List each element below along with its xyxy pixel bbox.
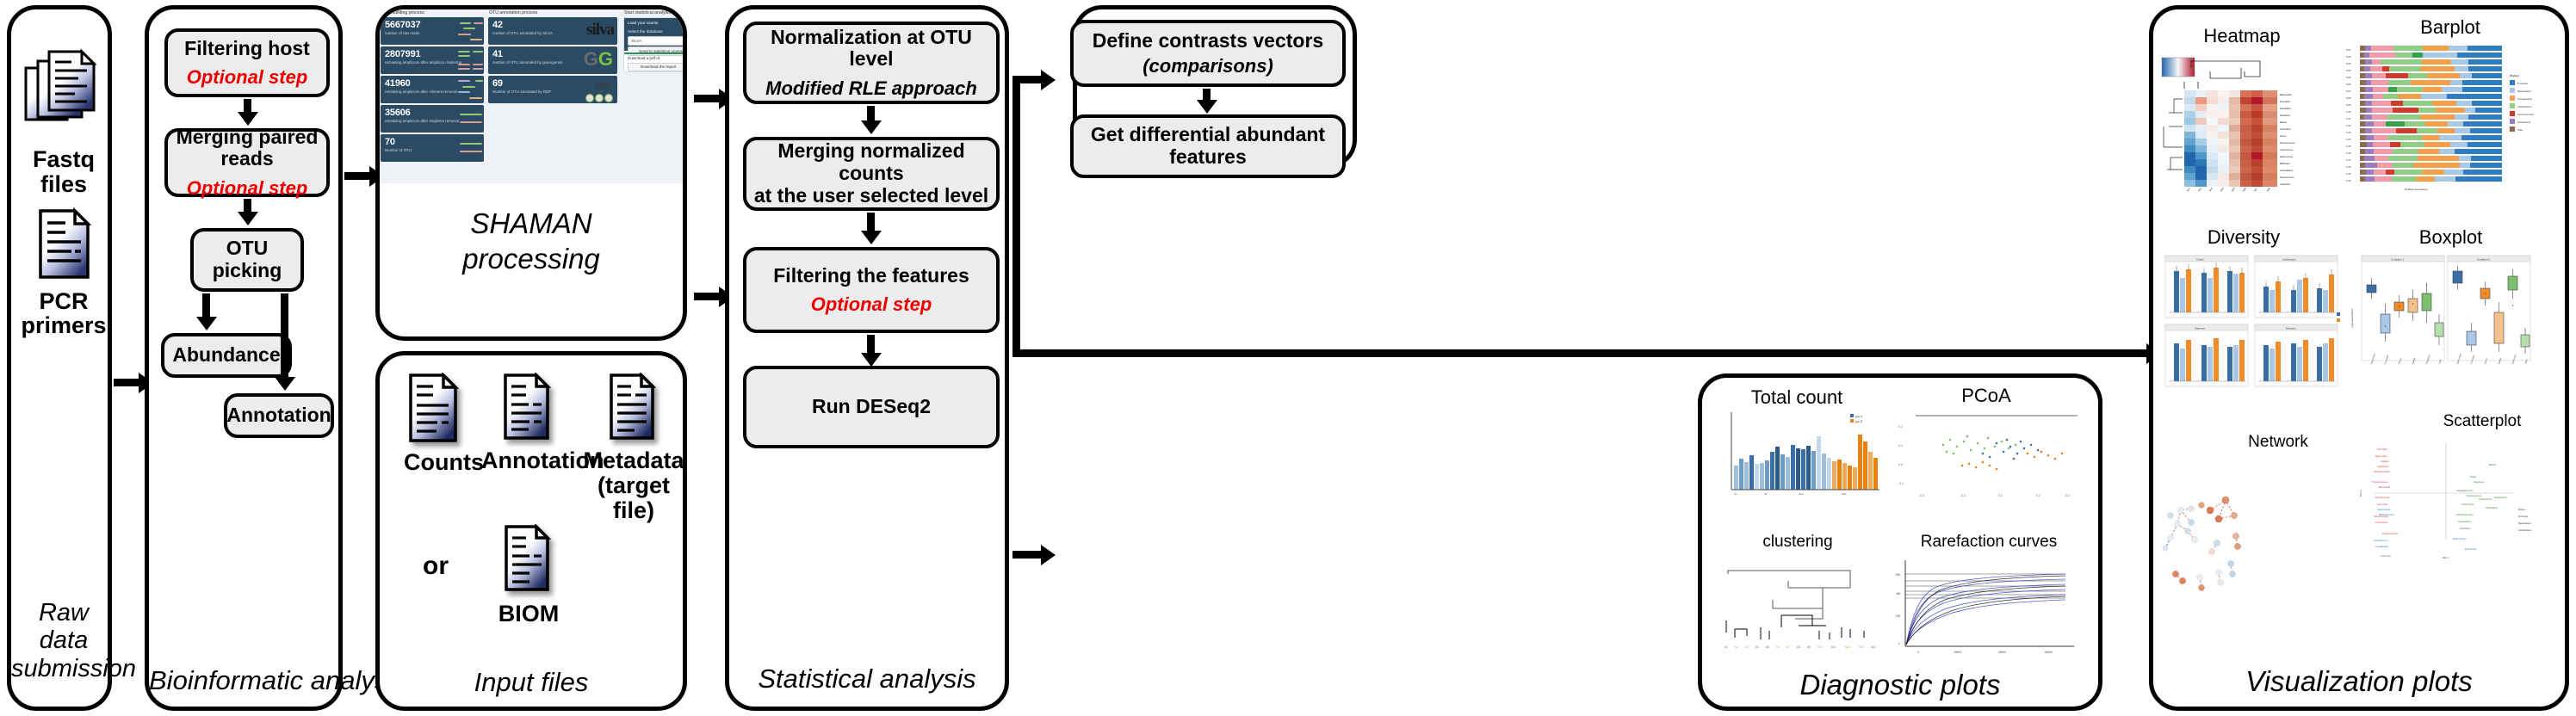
svg-text:Akkermansia: Akkermansia xyxy=(2280,155,2294,158)
card-value: 41960 xyxy=(385,78,411,89)
svg-text:Blautia: Blautia xyxy=(2280,120,2287,124)
svg-text:S05: S05 xyxy=(2231,187,2236,193)
svg-text:Condition 2: Condition 2 xyxy=(2477,258,2491,262)
fastq-files-icon xyxy=(23,47,106,142)
svg-text:Bacteroides: Bacteroides xyxy=(2280,93,2292,96)
diagnostic-plot-clustering: s1s2 s3s4 s5s6 s7s8 s9s10 s11s12 s13s14 xyxy=(1712,555,1885,667)
input-file-biom[interactable]: BIOM xyxy=(481,524,576,626)
svg-text:s12: s12 xyxy=(1845,645,1850,649)
sparkline xyxy=(462,86,475,88)
svg-text:600: 600 xyxy=(1896,573,1901,577)
svg-text:S-18: S-18 xyxy=(2346,165,2351,169)
diagnostic-plot-total-count: S1S5S10S20 grp Agrp B xyxy=(1712,409,1881,512)
svg-text:Shannon: Shannon xyxy=(2195,327,2205,330)
shaman-label-line1: SHAMAN xyxy=(380,206,683,241)
visualization-plot-scatterplot: PrevotellaBacteroidesAlistipes Odoribact… xyxy=(2360,436,2541,608)
svg-text:S-09: S-09 xyxy=(2346,103,2351,107)
arrow-filtering-to-deseq xyxy=(867,335,875,354)
arrow-contrasts-to-differential xyxy=(1203,89,1211,101)
svg-text:Proteobacteria: Proteobacteria xyxy=(2517,97,2532,101)
sparkline xyxy=(458,68,470,70)
connector-statistical-long xyxy=(1012,76,1020,353)
svg-text:S-12: S-12 xyxy=(2346,124,2351,127)
step-note: (comparisons) xyxy=(1142,56,1273,77)
svg-text:Bacteroidetes: Bacteroidetes xyxy=(2518,522,2531,525)
svg-text:Condition 1: Condition 1 xyxy=(2391,258,2405,262)
svg-text:s1: s1 xyxy=(1725,645,1728,649)
shaman-section-otu: OTU building process xyxy=(381,10,424,15)
svg-text:Chao1: Chao1 xyxy=(2196,258,2204,262)
visualization-plot-title-boxplot: Boxplot xyxy=(2375,226,2526,249)
svg-text:Fusobacteria: Fusobacteria xyxy=(2517,120,2531,124)
svg-text:Phylum: Phylum xyxy=(2518,509,2525,511)
svg-text:200: 200 xyxy=(1896,614,1901,618)
svg-text:Faecalibact.: Faecalibact. xyxy=(2280,107,2292,110)
card-caption: Number of OTU xyxy=(385,148,412,152)
shaman-card-otu-4[interactable]: 70 Number of OTU xyxy=(381,134,484,162)
sparkline xyxy=(469,97,482,99)
sparkline xyxy=(473,51,483,52)
svg-text:Blautia: Blautia xyxy=(2489,463,2496,466)
panel-label-statistical: Statistical analysis xyxy=(729,664,1005,694)
svg-text:S07: S07 xyxy=(2253,187,2258,193)
svg-text:Lachnospira: Lachnospira xyxy=(2461,503,2474,506)
svg-text:Roseburia: Roseburia xyxy=(2474,480,2484,484)
step-normalization-otu[interactable]: Normalization at OTU level Modified RLE … xyxy=(743,22,1000,104)
step-title-line1: Get differential abundant xyxy=(1091,124,1325,146)
step-get-differential-features[interactable]: Get differential abundant features xyxy=(1070,114,1346,178)
arrow-statistical-to-diagnostic xyxy=(1012,551,1042,559)
counts-file-icon xyxy=(408,373,463,445)
step-title: Normalization at OTU level xyxy=(746,27,996,71)
svg-text:Akkermansia: Akkermansia xyxy=(2377,508,2391,511)
panel-shaman-processing: OTU building process OTU annotation proc… xyxy=(375,5,687,341)
step-title: Merging paired reads xyxy=(168,127,326,171)
arrow-shaman-to-statistical xyxy=(694,95,720,102)
step-abundance[interactable]: Abundance xyxy=(161,333,292,378)
svg-text:0.2: 0.2 xyxy=(1898,425,1903,429)
arrow-bioinformatic-to-shaman xyxy=(344,172,370,180)
svg-text:S5: S5 xyxy=(1764,492,1768,496)
visualization-plot-boxplot: Condition 1 Condition 2 xyxy=(2350,252,2539,390)
svg-text:S-15: S-15 xyxy=(2346,145,2351,148)
sparkline xyxy=(474,22,483,24)
card-caption: remaining amplicons after chimera remova… xyxy=(385,89,457,94)
arrow-merging-to-otu xyxy=(244,199,251,213)
svg-text:20000: 20000 xyxy=(1954,651,1961,654)
svg-text:InvSimpson: InvSimpson xyxy=(2282,258,2296,262)
panel-label-visualization: Visualization plots xyxy=(2153,665,2565,698)
step-run-deseq2[interactable]: Run DESeq2 xyxy=(743,366,1000,448)
arrow-otu-to-annotation xyxy=(281,293,288,378)
svg-text:Roseburia: Roseburia xyxy=(2280,114,2290,117)
card-value: 5667037 xyxy=(385,20,420,30)
input-file-counts[interactable]: Counts xyxy=(404,373,468,475)
svg-text:S-05: S-05 xyxy=(2346,76,2351,79)
svg-text:Prevotella: Prevotella xyxy=(2377,447,2387,451)
svg-text:S20: S20 xyxy=(1842,492,1847,496)
raw-data-label-line1: Raw data xyxy=(11,599,116,655)
step-otu-picking[interactable]: OTU picking xyxy=(190,228,304,292)
silva-logo-icon: silva xyxy=(586,21,614,40)
svg-text:S02: S02 xyxy=(2197,187,2202,193)
card-caption: number of OTU annotated by greengenes xyxy=(492,60,562,65)
svg-text:40000: 40000 xyxy=(1998,651,2006,654)
svg-text:60000: 60000 xyxy=(2045,651,2053,654)
svg-text:S04: S04 xyxy=(2220,187,2225,193)
svg-text:Phylum: Phylum xyxy=(2510,74,2519,77)
svg-text:Actinobacteria: Actinobacteria xyxy=(2517,105,2532,108)
shaman-section-annotation: OTU annotation process xyxy=(489,10,537,15)
svg-text:Clostridium: Clostridium xyxy=(2460,527,2471,530)
svg-text:Clostridium: Clostridium xyxy=(2280,127,2291,131)
step-define-contrasts[interactable]: Define contrasts vectors (comparisons) xyxy=(1070,20,1346,87)
step-note: Optional step xyxy=(811,294,932,315)
svg-text:Escherichia: Escherichia xyxy=(2465,547,2477,551)
svg-text:S01: S01 xyxy=(2186,187,2191,193)
svg-text:Other: Other xyxy=(2517,128,2523,132)
visualization-plot-title-scatterplot: Scatterplot xyxy=(2405,412,2560,431)
arrow-merging-to-filtering xyxy=(867,213,875,231)
card-caption: Number of OTU annotated by RDP xyxy=(492,89,551,94)
biom-file-icon xyxy=(504,524,554,595)
svg-text:S-10: S-10 xyxy=(2346,110,2351,114)
svg-text:Actinobacteria: Actinobacteria xyxy=(2518,529,2532,532)
rdp-logo-icon: rdp xyxy=(595,81,610,91)
step-merging-normalized-counts[interactable]: Merging normalized counts at the user se… xyxy=(743,137,1000,211)
shaman-card-annotation-1[interactable]: 41 number of OTU annotated by greengenes… xyxy=(488,46,617,74)
svg-text:Streptococcus: Streptococcus xyxy=(2280,176,2294,179)
svg-text:Butyricimonas: Butyricimonas xyxy=(2375,496,2390,499)
svg-text:Streptococcus: Streptococcus xyxy=(2374,539,2388,542)
sparkline xyxy=(473,68,483,70)
svg-text:0.0: 0.0 xyxy=(1998,494,2003,497)
shaman-stats-panel: Load your counts Select the database SIL… xyxy=(623,17,687,72)
arrow-otu-to-abundance xyxy=(202,293,210,318)
step-title-line2: features xyxy=(1169,146,1246,169)
svg-text:Subdoligranulum: Subdoligranulum xyxy=(2456,513,2473,516)
svg-text:Oscillibacter: Oscillibacter xyxy=(2486,506,2498,509)
svg-text:S-16: S-16 xyxy=(2346,151,2351,155)
svg-text:S-02: S-02 xyxy=(2346,55,2351,59)
card-caption: number of raw reads xyxy=(385,31,419,35)
step-filtering-host[interactable]: Filtering host Optional step xyxy=(164,28,330,97)
visualization-plot-network xyxy=(2162,454,2343,626)
visualization-plot-title-barplot: Barplot xyxy=(2377,16,2523,39)
svg-text:S-11: S-11 xyxy=(2346,117,2351,120)
download-report-button[interactable]: Download the report xyxy=(628,63,687,71)
svg-text:Dorea: Dorea xyxy=(2280,134,2287,138)
svg-text:S-17: S-17 xyxy=(2346,158,2351,162)
panel-statistical-analysis: Normalization at OTU level Modified RLE … xyxy=(725,5,1009,711)
rdp-dots-icon xyxy=(585,91,613,103)
counts-file-caption: Counts xyxy=(404,450,468,475)
shaman-card-otu-1[interactable]: 2807991 remaining amplicons after amplic… xyxy=(381,46,484,74)
sparkline xyxy=(463,28,475,29)
panel-contrasts: Define contrasts vectors (comparisons) G… xyxy=(1073,5,1357,169)
svg-text:S-04: S-04 xyxy=(2346,69,2351,72)
download-label: Download a pdf of xyxy=(628,56,659,60)
card-value: 42 xyxy=(492,20,503,30)
stats-database-select[interactable]: SILVA xyxy=(628,36,687,46)
svg-text:Faecalibacterium: Faecalibacterium xyxy=(2456,489,2474,492)
svg-text:S10: S10 xyxy=(1799,492,1804,496)
sparkline xyxy=(458,64,470,65)
svg-text:s9: s9 xyxy=(1807,645,1811,649)
card-value: 2807991 xyxy=(385,49,420,59)
sparkline xyxy=(458,91,470,93)
svg-text:S-06: S-06 xyxy=(2346,83,2351,86)
svg-text:Dorea: Dorea xyxy=(2470,475,2477,478)
step-title: OTU picking xyxy=(194,238,300,282)
svg-text:Odoribacter: Odoribacter xyxy=(2377,465,2389,468)
arrow-statistical-to-visualization xyxy=(1012,349,2147,357)
svg-text:Enterococcus: Enterococcus xyxy=(2453,537,2467,540)
shaman-card-annotation-2[interactable]: 69 Number of OTU annotated by RDP rdp xyxy=(488,76,617,103)
pcr-primers-icon xyxy=(37,207,96,283)
sparkline xyxy=(458,55,470,57)
svg-text:s6: s6 xyxy=(1776,645,1780,649)
svg-text:0: 0 xyxy=(1898,642,1900,645)
shaman-screenshot: OTU building process OTU annotation proc… xyxy=(376,6,687,183)
svg-text:S1: S1 xyxy=(1734,492,1737,496)
visualization-plot-barplot: S-01S-02S-03S-04 S-05S-06S-07S-08 S-09S-… xyxy=(2344,42,2542,223)
svg-text:S-07: S-07 xyxy=(2346,89,2351,93)
diagnostic-plot-rarefaction: 6004002000 0200004000060000 xyxy=(1893,555,2084,667)
svg-text:s3: s3 xyxy=(1745,645,1749,649)
step-note: Optional step xyxy=(187,67,308,88)
svg-text:S-14: S-14 xyxy=(2346,138,2351,141)
svg-text:Bacteroidetes: Bacteroidetes xyxy=(2517,89,2532,93)
svg-text:0.1: 0.1 xyxy=(1898,444,1903,447)
panel-bioinformatic: Filtering host Optional step Merging pai… xyxy=(145,5,343,711)
svg-text:-0.4: -0.4 xyxy=(1919,494,1924,497)
biom-file-caption: BIOM xyxy=(481,602,576,626)
svg-text:Firmicutes: Firmicutes xyxy=(2517,82,2529,85)
svg-text:Bifidobacterium: Bifidobacterium xyxy=(2379,513,2394,516)
diagnostic-plot-title-clustering: clustering xyxy=(1716,533,1879,552)
annotation-file-caption: Annotation xyxy=(481,448,576,473)
svg-text:Verrucomicrobia: Verrucomicrobia xyxy=(2517,113,2534,116)
diagnostic-plot-title-pcoa: PCoA xyxy=(1900,385,2072,407)
svg-text:Lactobacillus: Lactobacillus xyxy=(2280,169,2294,172)
panel-label-shaman: SHAMAN processing xyxy=(380,206,683,277)
card-value: 70 xyxy=(385,137,395,147)
shaman-card-otu-3[interactable]: 35606 remaining amplicons after singleto… xyxy=(381,105,484,133)
stats-select-value: SILVA xyxy=(631,39,641,43)
pcr-primers-icon-group xyxy=(37,207,96,283)
svg-text:Dim 1: Dim 1 xyxy=(2443,556,2449,559)
metadata-file-icon xyxy=(609,373,659,443)
svg-text:Bacteroides: Bacteroides xyxy=(2375,454,2387,458)
svg-text:Porphyromonas: Porphyromonas xyxy=(2372,480,2388,484)
svg-text:Lactobacillus: Lactobacillus xyxy=(2375,545,2389,548)
metadata-file-caption-line2: (target file) xyxy=(583,473,684,523)
svg-text:Log2 abundance: Log2 abundance xyxy=(2350,308,2354,328)
diagnostic-plot-pcoa: -0.4-0.20.0 0.20.4 0.20.10.0-0.1 xyxy=(1893,409,2084,512)
diagnostic-plot-title-total-count: Total count xyxy=(1711,386,1883,409)
svg-text:0.0: 0.0 xyxy=(1898,463,1903,466)
svg-text:s10: s10 xyxy=(1817,645,1823,649)
shaman-card-otu-2[interactable]: 41960 remaining amplicons after chimera … xyxy=(381,76,484,103)
sparkline xyxy=(470,39,482,40)
visualization-plot-title-heatmap: Heatmap xyxy=(2169,25,2315,47)
svg-text:Coprococcus: Coprococcus xyxy=(2479,497,2492,501)
step-merging-paired-reads[interactable]: Merging paired reads Optional step xyxy=(164,128,330,197)
svg-text:Tannerella: Tannerella xyxy=(2377,503,2388,506)
svg-text:grp A: grp A xyxy=(1855,415,1863,418)
svg-text:Other: Other xyxy=(2524,359,2529,365)
sparkline xyxy=(473,64,483,65)
svg-text:Veillonella: Veillonella xyxy=(2381,554,2391,558)
step-title: Run DESeq2 xyxy=(812,396,931,418)
visualization-plot-diversity: Chao1 InvSimpson xyxy=(2162,252,2343,390)
svg-text:Anaerostipes: Anaerostipes xyxy=(2458,520,2472,523)
fastq-files-caption: Fastq files xyxy=(11,147,116,197)
svg-text:Coprococcus: Coprococcus xyxy=(2280,148,2294,151)
input-file-metadata[interactable]: Metadata (target file) xyxy=(583,373,684,523)
svg-text:Eubacterium: Eubacterium xyxy=(2494,496,2507,499)
svg-text:Dim 2: Dim 2 xyxy=(2360,490,2362,497)
card-value: 69 xyxy=(492,78,503,89)
panel-label-bioinformatic: Bioinformatic analysis xyxy=(149,665,338,696)
panel-label-diagnostic: Diagnostic plots xyxy=(1702,669,2098,701)
svg-text:s4: s4 xyxy=(1756,645,1759,649)
panel-label-input-files: Input files xyxy=(380,667,683,698)
svg-text:-0.2: -0.2 xyxy=(1960,494,1966,497)
stats-select-label: Select the database xyxy=(628,29,663,34)
shaman-section-stats: Start statistical analysis xyxy=(624,10,671,15)
annotation-file-icon xyxy=(503,373,554,443)
sparkline xyxy=(460,121,482,123)
svg-text:s14: s14 xyxy=(1871,645,1876,649)
svg-text:Coprobacter: Coprobacter xyxy=(2375,521,2387,524)
panel-diagnostic-plots: Total count S1 xyxy=(1698,373,2102,711)
svg-text:Barnesiella: Barnesiella xyxy=(2379,485,2390,489)
svg-text:Alistipes: Alistipes xyxy=(2381,460,2389,463)
step-annotation[interactable]: Annotation xyxy=(224,393,334,438)
panel-input-files: Counts Annotation xyxy=(375,351,687,711)
arrow-normalization-to-merging xyxy=(867,106,875,121)
svg-text:Relative abundance: Relative abundance xyxy=(2405,188,2428,191)
step-title: Filtering host xyxy=(184,38,310,60)
visualization-plot-title-network: Network xyxy=(2205,433,2351,452)
stats-panel-title: Load your counts xyxy=(628,21,658,25)
svg-text:S-19: S-19 xyxy=(2346,172,2351,176)
svg-text:s5: s5 xyxy=(1766,645,1769,649)
panel-label-raw-data: Raw data submission xyxy=(11,599,116,682)
sparkline xyxy=(475,80,483,82)
svg-text:s11: s11 xyxy=(1831,645,1836,649)
step-title: Define contrasts vectors xyxy=(1093,30,1323,52)
step-filtering-features[interactable]: Filtering the features Optional step xyxy=(743,247,1000,333)
sparkline xyxy=(458,51,470,52)
sparkline xyxy=(458,80,470,82)
pcr-primers-caption-line1: PCR xyxy=(11,289,116,314)
card-value: 41 xyxy=(492,49,503,59)
svg-text:0.2: 0.2 xyxy=(2036,494,2040,497)
arrow-raw-to-bioinformatic xyxy=(114,379,139,386)
shaman-label-line2: processing xyxy=(380,241,683,276)
svg-text:Bifidobact.: Bifidobact. xyxy=(2280,162,2290,165)
svg-text:Parabacteroides: Parabacteroides xyxy=(2374,470,2391,473)
step-title: Annotation xyxy=(226,404,331,427)
sparkline xyxy=(460,151,482,152)
svg-text:Simpson: Simpson xyxy=(2286,327,2296,330)
svg-text:Firmicutes: Firmicutes xyxy=(2518,515,2529,518)
visualization-plot-title-diversity: Diversity xyxy=(2170,226,2317,249)
pcr-primers-caption-line2: primers xyxy=(11,313,116,338)
svg-text:400: 400 xyxy=(1896,592,1901,596)
svg-text:S06: S06 xyxy=(2242,187,2247,193)
svg-text:s2: s2 xyxy=(1735,645,1738,649)
sparkline xyxy=(458,34,471,35)
svg-text:-0.1: -0.1 xyxy=(1898,482,1904,485)
svg-text:s7: s7 xyxy=(1786,645,1790,649)
card-caption: remaining amplicons after amplicon clust… xyxy=(385,60,461,65)
step-note: Modified RLE approach xyxy=(765,78,977,99)
svg-text:0: 0 xyxy=(1917,651,1919,654)
svg-text:Veillonella: Veillonella xyxy=(2280,182,2290,186)
step-title: Abundance xyxy=(172,344,280,367)
step-title-line1: Merging normalized counts xyxy=(746,140,996,185)
input-files-or-label: or xyxy=(406,552,466,581)
card-caption: remaining amplicons after singleton remo… xyxy=(385,119,459,123)
card-value: 35606 xyxy=(385,108,411,118)
download-button-label: Download the report xyxy=(641,65,676,69)
svg-text:grp B: grp B xyxy=(1855,420,1863,423)
send-to-stats-button[interactable]: Send to statistical analysis xyxy=(628,46,687,56)
svg-text:Dysgonomonas: Dysgonomonas xyxy=(2382,532,2399,535)
svg-text:s8: s8 xyxy=(1797,645,1800,649)
svg-text:S-13: S-13 xyxy=(2346,131,2351,134)
svg-text:Prevotella: Prevotella xyxy=(2280,100,2290,103)
svg-text:Ruminococcus: Ruminococcus xyxy=(2467,494,2482,497)
raw-data-label-line2: submission xyxy=(11,655,116,682)
card-caption: number of OTU annotated by SILVA xyxy=(492,31,553,35)
svg-text:S-20: S-20 xyxy=(2346,179,2351,182)
svg-text:S08: S08 xyxy=(2266,187,2271,193)
arrow-filtering-to-merging xyxy=(244,99,251,113)
svg-text:S-08: S-08 xyxy=(2346,96,2351,100)
shaman-card-otu-0[interactable]: 5667037 number of raw reads xyxy=(381,17,484,45)
sparkline xyxy=(460,143,482,145)
arrow-input-files-to-statistical xyxy=(694,293,720,300)
visualization-plot-heatmap: BacteroidesPrevotellaFaecalibact. Rosebu… xyxy=(2158,47,2331,219)
step-title-line2: at the user selected level xyxy=(754,185,988,207)
panel-visualization-plots: Heatmap xyxy=(2149,5,2569,711)
input-file-annotation[interactable]: Annotation xyxy=(481,373,576,473)
metadata-file-caption-line1: Metadata xyxy=(583,448,684,473)
svg-text:S-03: S-03 xyxy=(2346,62,2351,65)
panel-raw-data: Fastq files xyxy=(7,5,112,711)
svg-text:s13: s13 xyxy=(1859,645,1864,649)
step-note: Optional step xyxy=(187,178,308,199)
diagnostic-plot-title-rarefaction: Rarefaction curves xyxy=(1893,533,2084,552)
sparkline xyxy=(460,22,471,24)
svg-text:Ruminococcus: Ruminococcus xyxy=(2280,141,2295,145)
step-title: Filtering the features xyxy=(773,265,969,287)
svg-text:S-01: S-01 xyxy=(2346,48,2351,52)
shaman-card-annotation-0[interactable]: 42 number of OTU annotated by SILVA silv… xyxy=(488,17,617,45)
svg-text:Other: Other xyxy=(2438,359,2443,365)
fastq-files-icon-group xyxy=(23,47,106,142)
greengenes-logo-icon: GG xyxy=(584,48,613,71)
svg-text:S03: S03 xyxy=(2208,187,2214,193)
sparkline xyxy=(460,114,482,115)
svg-text:0.4: 0.4 xyxy=(2065,494,2070,497)
